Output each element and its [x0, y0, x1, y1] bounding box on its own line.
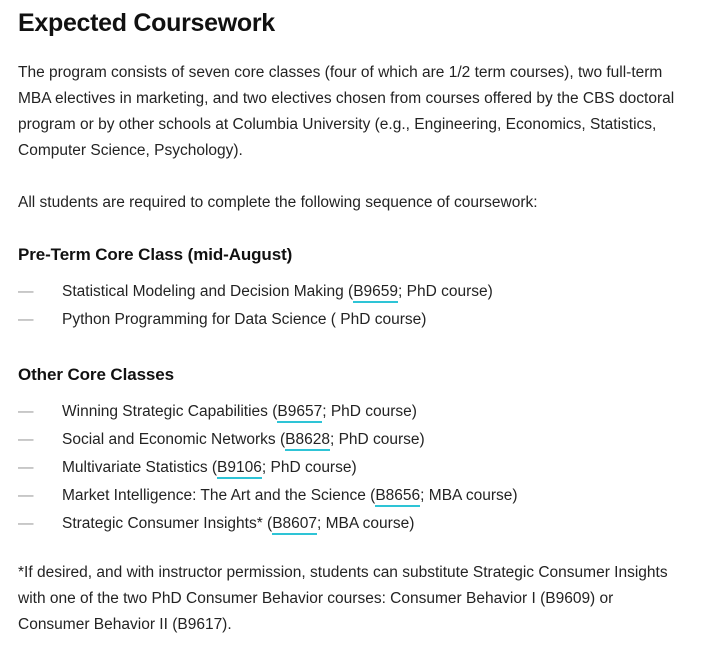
course-name: Social and Economic Networks (: [62, 431, 285, 448]
course-list: —Statistical Modeling and Decision Makin…: [18, 278, 689, 334]
section-heading: Pre-Term Core Class (mid-August): [18, 244, 689, 266]
course-list-item: —Statistical Modeling and Decision Makin…: [18, 278, 689, 306]
course-code-suffix: ; MBA course): [317, 515, 414, 532]
course-list-item: —Python Programming for Data Science ( P…: [18, 306, 689, 334]
course-name: Market Intelligence: The Art and the Sci…: [62, 487, 375, 504]
page-title: Expected Coursework: [18, 8, 689, 39]
course-title-text: Social and Economic Networks (B8628; PhD…: [62, 426, 689, 454]
intro-paragraph: The program consists of seven core class…: [18, 60, 689, 164]
spacer: [18, 334, 689, 364]
course-list: —Winning Strategic Capabilities (B9657; …: [18, 398, 689, 538]
course-title-text: Market Intelligence: The Art and the Sci…: [62, 482, 689, 510]
course-code-link[interactable]: B8607: [272, 515, 317, 535]
course-title-text: Python Programming for Data Science ( Ph…: [62, 306, 689, 334]
requirement-paragraph: All students are required to complete th…: [18, 190, 689, 216]
course-title-text: Strategic Consumer Insights* (B8607; MBA…: [62, 510, 689, 538]
spacer: [18, 39, 689, 60]
spacer: [18, 216, 689, 244]
dash-bullet-icon: —: [18, 398, 62, 426]
course-code-link[interactable]: B9659: [353, 283, 398, 303]
course-title-text: Multivariate Statistics (B9106; PhD cour…: [62, 454, 689, 482]
course-code-link[interactable]: B9106: [217, 459, 262, 479]
course-list-item: —Multivariate Statistics (B9106; PhD cou…: [18, 454, 689, 482]
course-title-text: Statistical Modeling and Decision Making…: [62, 278, 689, 306]
dash-bullet-icon: —: [18, 278, 62, 306]
dash-bullet-icon: —: [18, 426, 62, 454]
spacer: [18, 538, 689, 560]
spacer: [18, 164, 689, 190]
course-name: Strategic Consumer Insights* (: [62, 515, 272, 532]
dash-bullet-icon: —: [18, 510, 62, 538]
course-code-link[interactable]: B8628: [285, 431, 330, 451]
course-code-link[interactable]: B9657: [277, 403, 322, 423]
course-code-suffix: ; PhD course): [262, 459, 357, 476]
course-title-text: Winning Strategic Capabilities (B9657; P…: [62, 398, 689, 426]
section-heading: Other Core Classes: [18, 364, 689, 386]
spacer: [18, 386, 689, 398]
coursework-page: Expected Coursework The program consists…: [0, 8, 707, 638]
course-code-suffix: ; MBA course): [420, 487, 517, 504]
course-code-suffix: ; PhD course): [322, 403, 417, 420]
course-list-item: —Market Intelligence: The Art and the Sc…: [18, 482, 689, 510]
footnote-text: *If desired, and with instructor permiss…: [18, 560, 689, 638]
course-name: Statistical Modeling and Decision Making…: [62, 283, 353, 300]
course-name: Multivariate Statistics (: [62, 459, 217, 476]
course-name: Python Programming for Data Science ( Ph…: [62, 311, 426, 328]
course-list-item: —Winning Strategic Capabilities (B9657; …: [18, 398, 689, 426]
course-sections: Pre-Term Core Class (mid-August)—Statist…: [18, 244, 689, 538]
course-code-suffix: ; PhD course): [330, 431, 425, 448]
course-list-item: —Strategic Consumer Insights* (B8607; MB…: [18, 510, 689, 538]
course-name: Winning Strategic Capabilities (: [62, 403, 277, 420]
dash-bullet-icon: —: [18, 306, 62, 334]
course-list-item: —Social and Economic Networks (B8628; Ph…: [18, 426, 689, 454]
dash-bullet-icon: —: [18, 482, 62, 510]
spacer: [18, 266, 689, 278]
course-code-suffix: ; PhD course): [398, 283, 493, 300]
course-code-link[interactable]: B8656: [375, 487, 420, 507]
dash-bullet-icon: —: [18, 454, 62, 482]
